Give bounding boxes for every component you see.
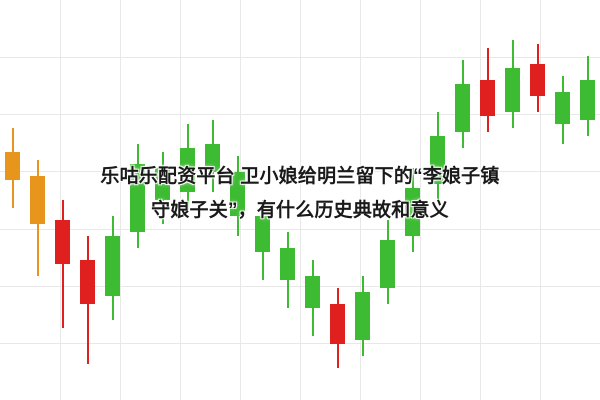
candle-body bbox=[280, 248, 296, 280]
candle-body bbox=[305, 276, 321, 308]
candle-body bbox=[455, 84, 471, 132]
candle-body bbox=[580, 80, 596, 120]
candle-body bbox=[505, 68, 521, 112]
candle-body bbox=[380, 240, 396, 288]
overlay-headline: 乐咕乐配资平台 卫小娘给明兰留下的“李娘子镇 守娘子关”，有什么历史典故和意义 bbox=[0, 160, 600, 228]
candle-body bbox=[105, 236, 121, 296]
candle-body bbox=[555, 92, 571, 124]
candle-body bbox=[80, 260, 96, 304]
screenshot-root: 乐咕乐配资平台 卫小娘给明兰留下的“李娘子镇 守娘子关”，有什么历史典故和意义 bbox=[0, 0, 600, 400]
candle-body bbox=[480, 80, 496, 116]
candle-body bbox=[330, 304, 346, 344]
candle-body bbox=[530, 64, 546, 96]
candle-body bbox=[355, 292, 371, 340]
